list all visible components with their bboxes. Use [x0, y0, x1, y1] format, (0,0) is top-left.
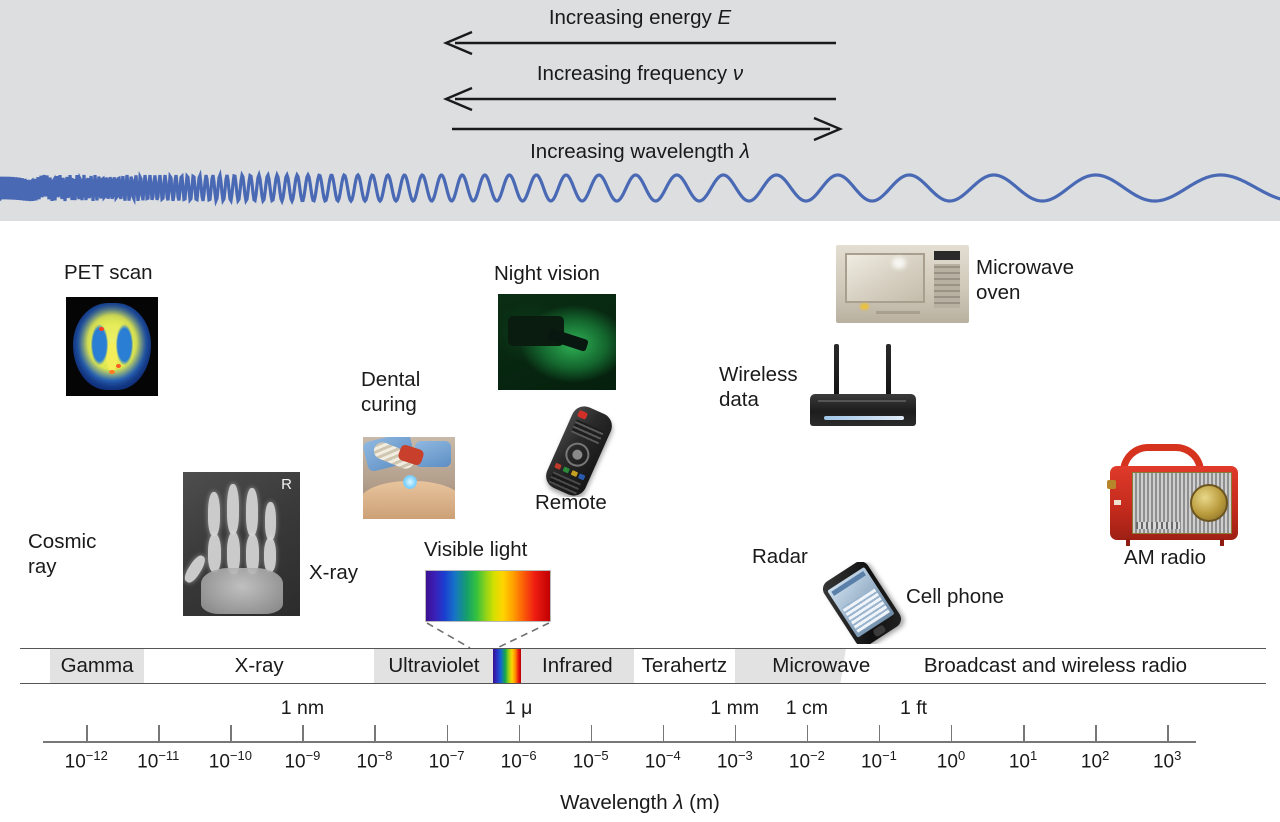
night-vision-label: Night vision [494, 261, 600, 286]
visible-light-connector [425, 622, 555, 650]
spectrum-band-label: Broadcast and wireless radio [924, 654, 1187, 678]
header-panel: Increasing energy E Increasing frequency… [0, 0, 1280, 221]
spectrum-band-visible-rainbow[interactable] [493, 649, 520, 683]
spectrum-band-label: Terahertz [642, 654, 727, 678]
radio-foot [1220, 539, 1224, 546]
x-ray-label: X-ray [309, 560, 358, 585]
wifi-router-image [808, 342, 918, 428]
axis-tick-label: 100 [937, 748, 965, 773]
axis-unit-marker: 1 nm [281, 697, 324, 720]
axis-tick-label: 101 [1009, 748, 1037, 773]
spectrum-band-x-ray[interactable]: X-ray [144, 649, 375, 683]
visible-light-label: Visible light [424, 537, 527, 562]
radio-tuning-scale [1136, 522, 1180, 529]
microwave-oven-label: Microwave oven [976, 255, 1074, 305]
energy-symbol: E [717, 6, 731, 29]
visible-light-image [425, 570, 551, 622]
color-button [554, 463, 562, 470]
remote-image [534, 405, 640, 497]
frequency-arrow-label: Increasing frequency ν [0, 62, 1280, 86]
chirped-sine-wave-icon [0, 160, 1280, 218]
radio-case [1110, 466, 1238, 540]
axis-tick-label: 10−2 [789, 748, 825, 773]
spectrum-band-microwave[interactable]: Microwave [735, 649, 908, 683]
frequency-symbol: ν [733, 62, 743, 85]
dental-curing-label: Dental curing [361, 367, 420, 417]
axis-tick [1095, 725, 1097, 741]
router-led-strip [824, 416, 904, 420]
radio-knob [1107, 480, 1116, 489]
axis-tick-label: 10−12 [65, 748, 108, 773]
spectrum-band-terahertz[interactable]: Terahertz [634, 649, 735, 683]
finger-bone [227, 484, 239, 534]
phone-body [819, 562, 904, 644]
oven-display [934, 251, 960, 260]
axis-tick-label: 10−10 [209, 748, 252, 773]
spectrum-band-broadcast-and-wireless-radio[interactable]: Broadcast and wireless radio [908, 649, 1203, 683]
axis-title: Wavelength λ (m) [0, 791, 1280, 815]
phone-statusbar [831, 571, 866, 596]
night-vision-image [498, 294, 616, 390]
axis-tick [951, 725, 953, 741]
spectrum-band-label: Gamma [61, 654, 134, 678]
axis-baseline [43, 741, 1196, 743]
dental-curing-image [363, 437, 455, 519]
axis-tick-label: 10−9 [284, 748, 320, 773]
remote-keypad [571, 419, 604, 444]
spectrum-band-gamma[interactable]: Gamma [50, 649, 144, 683]
axis-tick-label: 10−8 [357, 748, 393, 773]
x-ray-r-marker: R [281, 476, 292, 493]
wavelength-arrow-icon [0, 116, 1280, 142]
axis-tick-label: 10−7 [429, 748, 465, 773]
axis-tick-label: 10−11 [137, 748, 179, 773]
palm-bones [201, 568, 283, 614]
frequency-label-text: Increasing frequency [537, 62, 727, 85]
axis-tick-label: 103 [1153, 748, 1181, 773]
x-ray-image: R [183, 472, 300, 616]
finger-bone [264, 538, 276, 572]
pet-hotspot [99, 327, 104, 331]
finger-bone [246, 488, 258, 536]
finger-bone [208, 492, 220, 536]
axis-tick [735, 725, 737, 741]
oven-keypad [934, 264, 960, 308]
power-button [577, 410, 588, 420]
em-spectrum-figure: Increasing energy E Increasing frequency… [0, 0, 1280, 822]
curing-glow [403, 475, 417, 489]
router-antenna [834, 344, 839, 400]
am-radio-image [1106, 440, 1246, 548]
spectrum-band-label: Ultraviolet [388, 654, 479, 678]
finger-bone [208, 534, 221, 572]
spectrum-band-label: Infrared [542, 654, 613, 678]
axis-unit-marker: 1 ft [900, 697, 927, 720]
axis-unit-marker: 1 cm [786, 697, 828, 720]
axis-tick-label: 102 [1081, 748, 1109, 773]
axis-tick [591, 725, 593, 741]
frequency-arrow-group: Increasing frequency ν [0, 62, 1280, 110]
frequency-arrow-icon [0, 86, 1280, 112]
pet-scan-label: PET scan [64, 260, 153, 285]
axis-tick-label: 10−4 [645, 748, 681, 773]
spectrum-band-infrared[interactable]: Infrared [521, 649, 634, 683]
router-body [810, 394, 916, 426]
spectrum-band-label: Microwave [772, 654, 870, 678]
axis-tick [447, 725, 449, 741]
router-vent [818, 400, 906, 402]
axis-tick [879, 725, 881, 741]
microwave-oven-image [836, 245, 969, 323]
energy-arrow-icon [0, 30, 1280, 56]
wavelength-arrow-group: Increasing wavelength λ [0, 116, 1280, 164]
axis-tick-label: 10−5 [573, 748, 609, 773]
axis-tick [519, 725, 521, 741]
goggles-strap [547, 328, 589, 352]
axis-tick [807, 725, 809, 741]
axis-tick-label: 10−6 [501, 748, 537, 773]
remote-label: Remote [535, 490, 607, 515]
radar-image [723, 451, 845, 536]
oven-indicator [860, 303, 869, 310]
color-button [578, 473, 586, 480]
cosmic-ray-image [28, 422, 132, 521]
wave-illustration [0, 160, 1280, 218]
color-button [562, 466, 570, 473]
color-button [571, 470, 579, 477]
spectrum-band-label: X-ray [235, 654, 284, 678]
finger-bone [265, 502, 276, 540]
router-antenna [886, 344, 891, 400]
spectrum-band-ultraviolet[interactable]: Ultraviolet [374, 649, 493, 683]
remote-body [542, 405, 616, 497]
radio-badge [1114, 500, 1121, 505]
cosmic-ray-label: Cosmic ray [28, 529, 96, 579]
oven-window [845, 253, 925, 303]
cell-phone-image [818, 562, 910, 644]
radio-tuning-dial [1190, 484, 1228, 522]
oven-handle [876, 311, 920, 314]
oven-glare [892, 257, 906, 269]
axis-tick [374, 725, 376, 741]
axis-tick [230, 725, 232, 741]
axis-tick [158, 725, 160, 741]
am-radio-label: AM radio [1124, 545, 1206, 570]
energy-arrow-group: Increasing energy E [0, 6, 1280, 54]
axis-tick [663, 725, 665, 741]
pet-scan-image [66, 297, 158, 396]
spectrum-band-bar: GammaX-rayUltravioletInfraredTerahertzMi… [20, 648, 1266, 684]
axis-unit-marker: 1 mm [710, 697, 759, 720]
axis-title-unit: (m) [689, 791, 720, 814]
energy-arrow-label: Increasing energy E [0, 6, 1280, 30]
energy-label-text: Increasing energy [549, 6, 712, 29]
axis-tick [1023, 725, 1025, 741]
axis-tick [302, 725, 304, 741]
axis-tick-label: 10−3 [717, 748, 753, 773]
wireless-data-label: Wireless data [719, 362, 798, 412]
cell-phone-label: Cell phone [906, 584, 1004, 609]
axis-tick [1167, 725, 1169, 741]
axis-tick-label: 10−1 [861, 748, 897, 773]
pet-brain-shape [73, 303, 150, 390]
axis-tick [86, 725, 88, 741]
axis-title-text: Wavelength [560, 791, 668, 814]
axis-title-symbol: λ [673, 791, 683, 814]
axis-unit-marker: 1 μ [505, 697, 533, 720]
radar-label: Radar [752, 544, 808, 569]
